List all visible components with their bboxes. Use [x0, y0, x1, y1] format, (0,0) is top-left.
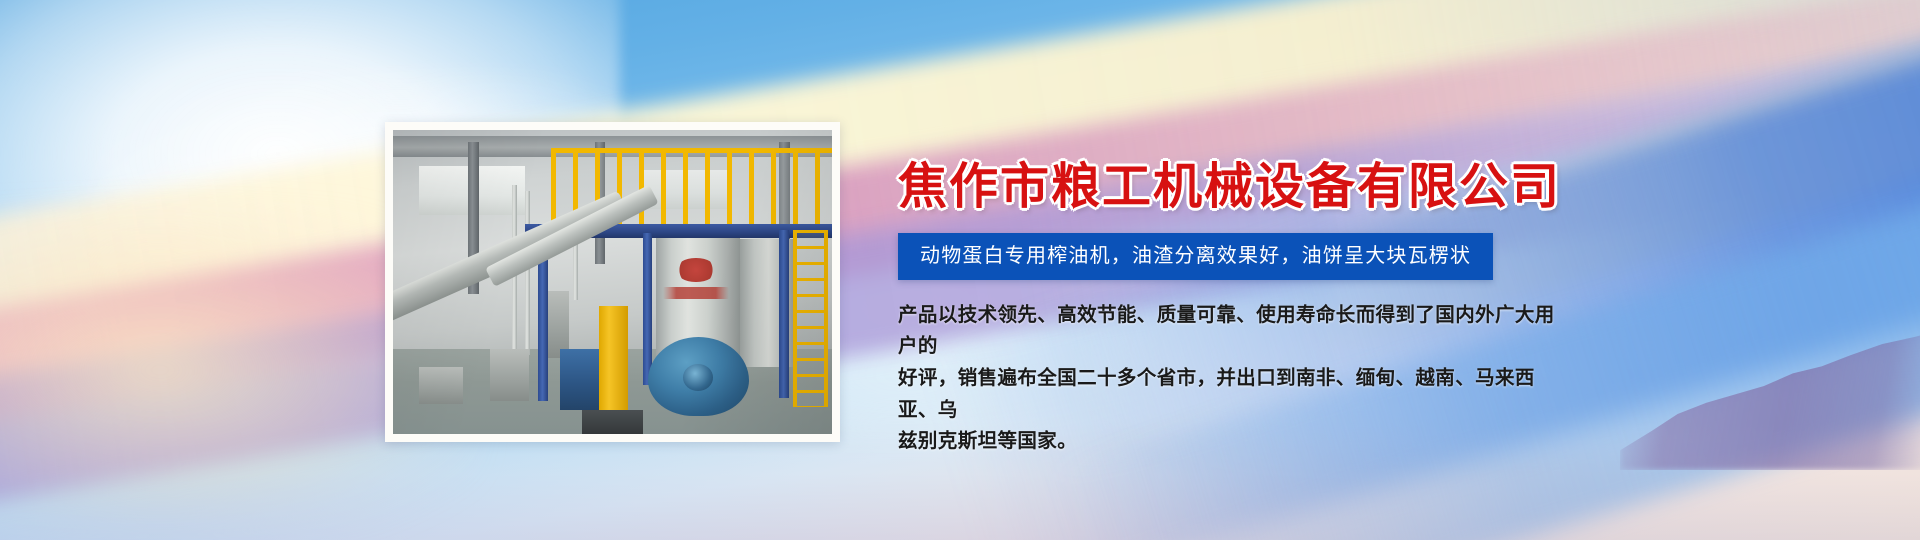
product-photo-card [385, 122, 840, 442]
banner-text-block: 焦作市粮工机械设备有限公司 动物蛋白专用榨油机，油渣分离效果好，油饼呈大块瓦楞状… [898, 160, 1598, 458]
description-line-3: 兹别克斯坦等国家。 [898, 426, 1558, 458]
description-line-1: 产品以技术领先、高效节能、质量可靠、使用寿命长而得到了国内外广大用户的 [898, 300, 1558, 363]
description-line-2: 好评，销售遍布全国二十多个省市，并出口到南非、缅甸、越南、马来西亚、乌 [898, 363, 1558, 426]
company-description: 产品以技术领先、高效节能、质量可靠、使用寿命长而得到了国内外广大用户的 好评，销… [898, 300, 1558, 458]
factory-equipment-photo [393, 130, 832, 434]
promo-banner: 焦作市粮工机械设备有限公司 动物蛋白专用榨油机，油渣分离效果好，油饼呈大块瓦楞状… [0, 0, 1920, 540]
company-title: 焦作市粮工机械设备有限公司 [898, 160, 1598, 215]
tagline-bar: 动物蛋白专用榨油机，油渣分离效果好，油饼呈大块瓦楞状 [898, 233, 1493, 280]
photo-shading-overlay [393, 130, 832, 434]
